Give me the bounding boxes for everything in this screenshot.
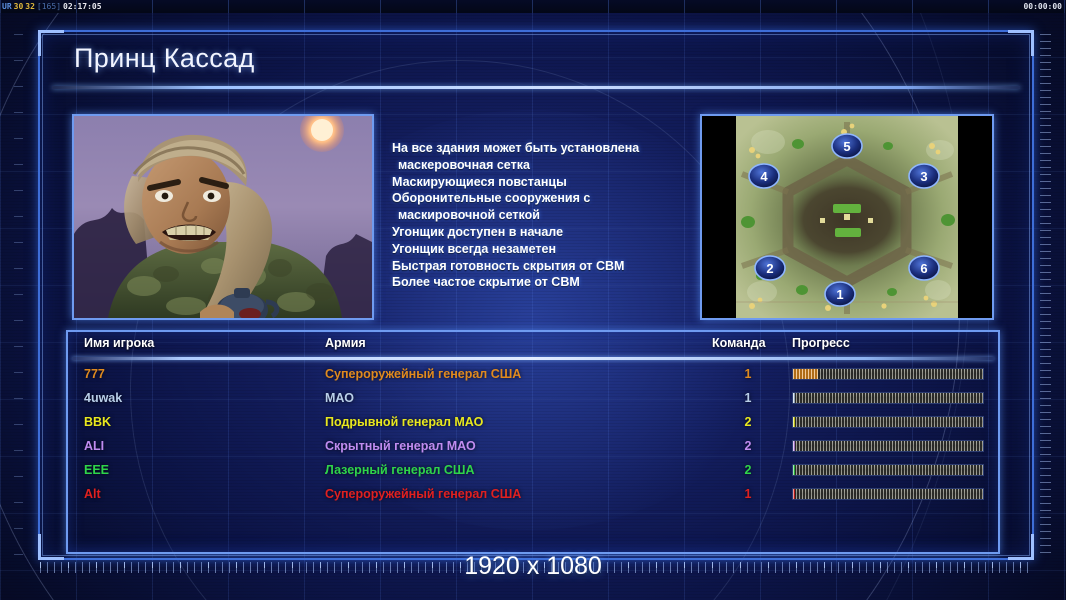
progress-bar-fill xyxy=(793,441,795,451)
topbar-grid xyxy=(0,0,1066,13)
general-info-row: На все здания может быть установлена мас… xyxy=(72,114,994,322)
player-name: BBK xyxy=(84,410,111,434)
progress-bar-fill xyxy=(793,465,795,475)
player-progress xyxy=(792,368,984,380)
column-header-army: Армия xyxy=(325,336,366,350)
hud-clock: 02:17:05 xyxy=(62,2,103,11)
player-name: ALI xyxy=(84,434,104,458)
progress-bar-fill xyxy=(793,369,818,379)
player-team: 1 xyxy=(732,386,764,410)
column-header-progress: Прогресс xyxy=(792,336,850,350)
progress-bar xyxy=(792,440,984,452)
hud-readout: UR3032[165]02:17:05 xyxy=(1,0,103,13)
player-name: 4uwak xyxy=(84,386,122,410)
progress-bar xyxy=(792,368,984,380)
svg-text:6: 6 xyxy=(920,261,927,276)
progress-bar-track xyxy=(793,489,983,499)
table-row[interactable]: 777Супероружейный генерал США1 xyxy=(72,362,994,386)
progress-bar xyxy=(792,416,984,428)
general-portrait xyxy=(72,114,374,320)
player-name: Alt xyxy=(84,482,101,506)
player-army: Лазерный генерал США xyxy=(325,458,474,482)
progress-bar-track xyxy=(793,417,983,427)
player-progress xyxy=(792,440,984,452)
column-header-team: Команда xyxy=(712,336,766,350)
svg-text:2: 2 xyxy=(766,261,773,276)
player-army: Скрытный генерал МАО xyxy=(325,434,476,458)
progress-bar-fill xyxy=(793,489,795,499)
table-row[interactable]: AltСупероружейный генерал США1 xyxy=(72,482,994,506)
map-start-position-5: 5 xyxy=(832,134,862,158)
player-progress xyxy=(792,392,984,404)
player-army: Супероружейный генерал США xyxy=(325,362,521,386)
hud-value-b: 32 xyxy=(24,2,36,11)
hud-label: UR xyxy=(1,2,13,11)
progress-bar-track xyxy=(793,369,983,379)
resolution-caption: 1920 x 1080 xyxy=(0,552,1066,581)
map-start-position-2: 2 xyxy=(755,256,785,280)
player-army: Подрывной генерал МАО xyxy=(325,410,483,434)
svg-text:3: 3 xyxy=(920,169,927,184)
match-timer: 00:00:00 xyxy=(1023,0,1062,13)
player-name: EEE xyxy=(84,458,109,482)
progress-bar-track xyxy=(793,465,983,475)
hud-bracket: [165] xyxy=(36,2,62,11)
player-team: 2 xyxy=(732,434,764,458)
ruler-ticks-left xyxy=(14,34,23,556)
table-row[interactable]: ALIСкрытный генерал МАО2 xyxy=(72,434,994,458)
portrait-artwork xyxy=(74,116,372,318)
player-team: 1 xyxy=(732,362,764,386)
column-header-player: Имя игрока xyxy=(84,336,154,350)
map-start-position-6: 6 xyxy=(909,256,939,280)
player-list-header: Имя игрока Армия Команда Прогресс xyxy=(72,336,994,358)
progress-bar xyxy=(792,392,984,404)
player-team: 2 xyxy=(732,410,764,434)
map-start-position-3: 3 xyxy=(909,164,939,188)
map-preview-artwork: 5 4 3 2 6 xyxy=(702,116,992,318)
title-bar: Принц Кассад xyxy=(52,42,1020,88)
player-team: 2 xyxy=(732,458,764,482)
player-team: 1 xyxy=(732,482,764,506)
ruler-ticks-right xyxy=(1040,34,1051,556)
map-start-position-1: 1 xyxy=(825,282,855,306)
player-rows: 777Супероружейный генерал США14uwakМАО1B… xyxy=(72,362,994,506)
map-preview[interactable]: 5 4 3 2 6 xyxy=(700,114,994,320)
table-row[interactable]: 4uwakМАО1 xyxy=(72,386,994,410)
progress-bar xyxy=(792,464,984,476)
progress-bar-track xyxy=(793,393,983,403)
svg-text:5: 5 xyxy=(843,139,850,154)
progress-bar-track xyxy=(793,441,983,451)
hud-value-a: 30 xyxy=(13,2,25,11)
title-underline xyxy=(52,86,1020,89)
progress-bar-fill xyxy=(793,393,795,403)
player-list: Имя игрока Армия Команда Прогресс 777Суп… xyxy=(72,336,994,548)
player-name: 777 xyxy=(84,362,105,386)
game-screen: UR3032[165]02:17:05 00:00:00 Принц Касса… xyxy=(0,0,1066,600)
progress-bar-fill xyxy=(793,417,795,427)
page-title: Принц Кассад xyxy=(74,43,255,74)
table-row[interactable]: EEEЛазерный генерал США2 xyxy=(72,458,994,482)
table-row[interactable]: BBKПодрывной генерал МАО2 xyxy=(72,410,994,434)
svg-text:1: 1 xyxy=(836,287,843,302)
player-army: МАО xyxy=(325,386,354,410)
player-progress xyxy=(792,464,984,476)
player-progress xyxy=(792,416,984,428)
svg-text:4: 4 xyxy=(760,169,768,184)
header-divider xyxy=(72,357,994,360)
progress-bar xyxy=(792,488,984,500)
player-army: Супероружейный генерал США xyxy=(325,482,521,506)
player-progress xyxy=(792,488,984,500)
map-start-position-4: 4 xyxy=(749,164,779,188)
top-status-bar: UR3032[165]02:17:05 00:00:00 xyxy=(0,0,1066,13)
